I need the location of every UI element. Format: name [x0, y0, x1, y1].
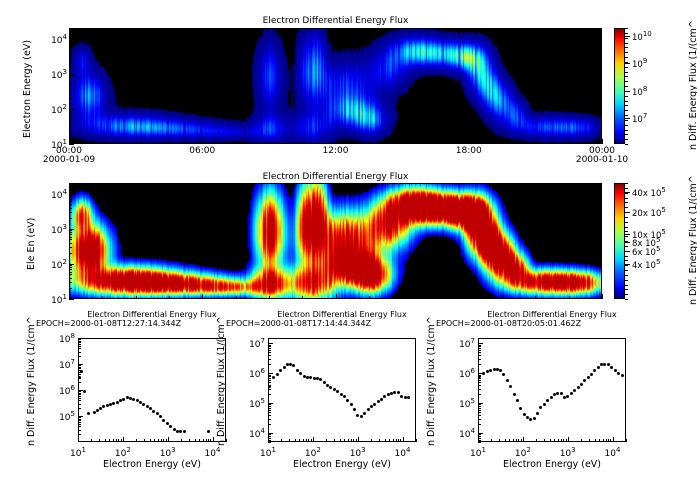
spectrum-xtick-minor [581, 439, 582, 442]
spectrum-xtick-minor [150, 439, 151, 442]
spectrum-ytick-minor [268, 406, 271, 407]
xtick-minor [469, 296, 470, 299]
cbar-tick-minor [625, 101, 628, 102]
cbar-tick-minor [625, 91, 628, 92]
xtick-date: 2000-01-09 [39, 155, 99, 165]
cbar-tick-label: 40x 105 [632, 186, 666, 199]
cbar-tick-minor [625, 202, 628, 203]
spectrum-xtick-label: 103 [150, 446, 186, 459]
ytick-minor [69, 82, 72, 83]
xtick-minor [136, 296, 137, 299]
ytick-label: 103 [41, 68, 67, 81]
spectrum-xtick-mark [358, 437, 359, 442]
spectrum-xtick-minor [595, 439, 596, 442]
spectrum-xtick-mark [403, 437, 404, 442]
spectrum-data-point [580, 383, 583, 386]
spectrum-xtick-minor [166, 439, 167, 442]
spectrum-ytick-minor [268, 412, 271, 413]
ytick-minor [69, 201, 72, 202]
spectrum-xtick-minor [353, 439, 354, 442]
cbar-tick-label: 107 [632, 112, 647, 125]
spectrum-xtick-mark [78, 437, 79, 442]
ytick-minor [69, 199, 72, 200]
xtick-date: 2000-01-10 [572, 155, 632, 165]
cbar-tick-minor [625, 67, 628, 68]
spectrum-xtick-minor [608, 439, 609, 442]
cbar-tick-minor [625, 222, 628, 223]
spectrum-xtick-minor [116, 439, 117, 442]
ytick-minor [69, 230, 72, 231]
cbar-tick-minor [625, 193, 628, 194]
cbar-tick-minor [625, 294, 628, 295]
spectrum-xtick-minor [589, 439, 590, 442]
spectrum-data-point [397, 391, 400, 394]
cbar-tick-minor [625, 38, 628, 39]
xtick-minor [535, 296, 536, 299]
spectrum-xtick-minor [144, 439, 145, 442]
xtick-minor [69, 296, 70, 299]
cbar-tick-minor [625, 120, 628, 121]
spectrum-ytick-label: 106 [238, 367, 265, 380]
xtick-minor [202, 141, 203, 144]
spectrum-ytick-minor [478, 350, 481, 351]
spectrum-ytick-minor [268, 346, 271, 347]
spectrum-data-point [83, 390, 86, 393]
spectrum-xtick-minor [521, 439, 522, 442]
spectrum-xtick-minor [491, 439, 492, 442]
spectrum-ytick-label: 108 [48, 332, 75, 345]
spectrum-xtick-minor [289, 439, 290, 442]
spectrum-data-point [597, 366, 600, 369]
cbar-tick-mark [625, 234, 630, 235]
spectrum-xtick-minor [281, 439, 282, 442]
spectrum-ytick-minor [78, 352, 81, 353]
ytick-minor [69, 77, 72, 78]
spectrum-ytick-minor [478, 424, 481, 425]
cbar-tick-minor [625, 86, 628, 87]
ytick-minor [69, 267, 72, 268]
ytick-label: 103 [41, 223, 67, 236]
spectrum-xtick-minor [603, 439, 604, 442]
ytick-minor [69, 253, 72, 254]
ytick-minor [69, 265, 72, 266]
cbar-tick-minor [625, 134, 628, 135]
xtick-minor [302, 141, 303, 144]
xtick-minor [169, 141, 170, 144]
cbar-tick-minor [625, 115, 628, 116]
spectrum-xtick-minor [295, 439, 296, 442]
ytick-minor [69, 197, 72, 198]
spectrum-xtick-minor [389, 439, 390, 442]
cbar-tick-minor [625, 72, 628, 73]
spectrum-xtick-minor [340, 439, 341, 442]
cbar-tick-minor [625, 251, 628, 252]
spectrum-xtick-minor [99, 439, 100, 442]
spectrum-xtick-label: 102 [295, 446, 331, 459]
xtick-label: 18:00 [441, 146, 497, 156]
spectrum-ytick-label: 107 [48, 358, 75, 371]
spectrum-ytick-minor [478, 442, 481, 443]
cbar-tick-mark [625, 63, 630, 64]
spectrum-xtick-minor [550, 439, 551, 442]
cbar-tick-minor [625, 265, 628, 266]
spectrum-xtick-minor [509, 439, 510, 442]
spectrum-xtick-minor [195, 439, 196, 442]
spectrum-xtick-minor [416, 439, 417, 442]
cbar-tick-minor [625, 144, 628, 145]
spectrum-xtick-label: 102 [105, 446, 141, 459]
spectrum-xtick-mark [268, 437, 269, 442]
spectrum-xtick-minor [210, 439, 211, 442]
spectrum-ytick-minor [78, 400, 81, 401]
spectrum-ytick-minor [478, 348, 481, 349]
xtick-minor [502, 296, 503, 299]
spectrum-xtick-minor [136, 439, 137, 442]
ytick-minor [69, 112, 72, 113]
spectrum-xtick-mark [313, 437, 314, 442]
xtick-minor [102, 141, 103, 144]
spectrum-ytick-minor [478, 382, 481, 383]
ytick-minor [69, 278, 72, 279]
spectrum-xtick-minor [505, 439, 506, 442]
spectrum-ytick-minor [478, 352, 481, 353]
xtick-minor [435, 296, 436, 299]
spectrum-xtick-minor [206, 439, 207, 442]
cbar-tick-minor [625, 275, 628, 276]
spectrum-ytick-minor [478, 415, 481, 416]
spectrum-data-point [407, 396, 410, 399]
ytick-minor [69, 53, 72, 54]
cbar-tick-minor [625, 139, 628, 140]
spectrum-xtick-minor [563, 439, 564, 442]
ytick-minor [69, 272, 72, 273]
xtick-minor [602, 296, 603, 299]
ytick-minor [69, 133, 72, 134]
spectrum-data-point [207, 430, 210, 433]
spectrum-xtick-minor [181, 439, 182, 442]
spectrum-ytick-minor [78, 422, 81, 423]
spectrum-xtick-minor [626, 439, 627, 442]
spectrum-data-point [621, 374, 624, 377]
spectrum-data-point [122, 398, 125, 401]
cbar-tick-minor [625, 43, 628, 44]
cbar-tick-minor [625, 246, 628, 247]
spectrum-ytick-minor [478, 419, 481, 420]
xtick-minor [169, 296, 170, 299]
spectrum-xtick-mark [123, 437, 124, 442]
cbar-tick-minor [625, 62, 628, 63]
spectrum-xtick-mark [613, 437, 614, 442]
spectrum-xtick-minor [516, 439, 517, 442]
cbar-tick-label: 10x 105 [632, 228, 666, 241]
spectrum-xtick-minor [308, 439, 309, 442]
middle-spectrogram-title: Electron Differential Energy Flux [69, 172, 602, 182]
spectrum-data-point [590, 373, 593, 376]
ytick-minor [69, 42, 72, 43]
xtick-minor [402, 141, 403, 144]
cbar-tick-minor [625, 227, 628, 228]
spectrum-ytick-minor [478, 406, 481, 407]
cbar-tick-label: 4x 105 [632, 258, 660, 271]
ytick-minor [69, 44, 72, 45]
xtick-minor [602, 141, 603, 144]
spectrum-ytick-minor [268, 378, 271, 379]
spectrum-ytick-label: 105 [448, 397, 475, 410]
cbar-tick-minor [625, 207, 628, 208]
ytick-minor [69, 237, 72, 238]
middle-spectrogram-image [70, 184, 602, 299]
spectrum-ytick-minor [78, 424, 81, 425]
spectrum-xtick-minor [558, 439, 559, 442]
middle-colorbar-label: n Diff. Energy Flux (1/(cm^ [688, 175, 697, 305]
spectrum-ytick-minor [78, 417, 81, 418]
spectrum-xtick-label: 103 [340, 446, 376, 459]
spectrum-ytick-label: 104 [448, 427, 475, 440]
spectrum-ytick-minor [78, 426, 81, 427]
spectrum-ytick-minor [478, 346, 481, 347]
spectrum-xtick-minor [356, 439, 357, 442]
spectrum-xtick-mark [478, 437, 479, 442]
spectrum-ytick-minor [268, 382, 271, 383]
spectrum-xtick-minor [348, 439, 349, 442]
spectrum-xtick-minor [199, 439, 200, 442]
ytick-minor [69, 127, 72, 128]
ytick-minor [69, 98, 72, 99]
spectrum-ytick-minor [268, 404, 271, 405]
spectrum-ytick-minor [78, 434, 81, 435]
spectrum-ytick-minor [78, 339, 81, 340]
ytick-minor [69, 208, 72, 209]
spectrum-ytick-minor [268, 389, 271, 390]
spectrum-ytick-minor [268, 419, 271, 420]
spectrum-ytick-minor [478, 364, 481, 365]
ytick-mark [69, 299, 74, 300]
ytick-minor [69, 49, 72, 50]
spectrum-xtick-minor [400, 439, 401, 442]
spectrum-ytick-label: 106 [448, 367, 475, 380]
ytick-minor [69, 212, 72, 213]
spectrum-ytick-label: 106 [48, 384, 75, 397]
spectrum-ytick-minor [268, 410, 271, 411]
ytick-label: 102 [41, 103, 67, 116]
spectrum-xtick-minor [306, 439, 307, 442]
spectrum-xtick-minor [154, 439, 155, 442]
cbar-tick-minor [625, 212, 628, 213]
ytick-minor [69, 288, 72, 289]
spectrum-ytick-minor [78, 396, 81, 397]
spectrum-ytick-minor [78, 391, 81, 392]
ytick-minor [69, 88, 72, 89]
spectrum-ytick-minor [478, 359, 481, 360]
spectrum-xtick-minor [158, 439, 159, 442]
spectrum-ytick-minor [478, 355, 481, 356]
spectrum-ytick-minor [78, 382, 81, 383]
spectrum-ytick-minor [268, 415, 271, 416]
spectrum-xtick-minor [326, 439, 327, 442]
spectrum-xtick-minor [121, 439, 122, 442]
ytick-minor [69, 123, 72, 124]
spectrum-xtick-minor [554, 439, 555, 442]
spectrum-xtick-minor [610, 439, 611, 442]
spectrum-xtick-minor [344, 439, 345, 442]
spectrum-data-point [350, 403, 353, 406]
spectrum-ytick-minor [478, 385, 481, 386]
spectrum-xtick-minor [299, 439, 300, 442]
cbar-tick-minor [625, 183, 628, 184]
spectrum-ytick-label: 107 [448, 337, 475, 350]
spectrum-ytick-minor [78, 430, 81, 431]
spectrum-ytick-minor [78, 394, 81, 395]
xtick-minor [369, 141, 370, 144]
spectrum-ytick-minor [268, 376, 271, 377]
spectrum-xtick-minor [536, 439, 537, 442]
spectrum-ytick-minor [78, 398, 81, 399]
cbar-tick-label: 109 [632, 57, 647, 70]
spectrum-ytick-minor [478, 394, 481, 395]
cbar-tick-minor [625, 57, 628, 58]
spectrum-xlabel: Electron Energy (eV) [82, 459, 222, 470]
cbar-tick-minor [625, 188, 628, 189]
ytick-label: 104 [41, 188, 67, 201]
xtick-minor [535, 141, 536, 144]
top-spectrogram-plot [69, 28, 602, 144]
spectrum-ytick-minor [268, 364, 271, 365]
spectrum-ytick-minor [78, 419, 81, 420]
cbar-tick-minor [625, 96, 628, 97]
cbar-tick-minor [625, 231, 628, 232]
spectrum-ytick-minor [268, 350, 271, 351]
spectrum-xtick-minor [91, 439, 92, 442]
spectrum-ytick-minor [268, 380, 271, 381]
spectrum-ytick-minor [78, 365, 81, 366]
spectrum-ytick-minor [78, 348, 81, 349]
spectrum-xtick-minor [203, 439, 204, 442]
middle-spectrogram-plot [69, 183, 602, 299]
spectrum-plot-box [268, 338, 416, 442]
spectrum-xtick-minor [606, 439, 607, 442]
xtick-minor [236, 296, 237, 299]
ytick-minor [69, 239, 72, 240]
cbar-tick-minor [625, 236, 628, 237]
xtick-minor [502, 141, 503, 144]
spectrum-xtick-minor [105, 439, 106, 442]
spectrum-ytick-minor [268, 345, 271, 346]
ytick-minor [69, 57, 72, 58]
spectrum-data-point [276, 373, 279, 376]
middle-spectrogram-ylabel: Ele En (eV) [26, 218, 37, 270]
ytick-mark [69, 144, 74, 145]
spectrum-xtick-label: 104 [195, 446, 231, 459]
spectrum-ylabel: n Diff. Energy Flux (1/(cm^ [26, 316, 37, 446]
cbar-tick-label: 20x 105 [632, 206, 666, 219]
spectrum-xtick-minor [513, 439, 514, 442]
ytick-minor [69, 110, 72, 111]
spectrum-xtick-minor [311, 439, 312, 442]
xtick-minor [269, 141, 270, 144]
spectrum-xtick-minor [109, 439, 110, 442]
spectrum-ytick-minor [78, 420, 81, 421]
ytick-minor [69, 119, 72, 120]
spectrum-xtick-minor [379, 439, 380, 442]
spectrum-epoch: EPOCH=2000-01-08T17:14:44.344Z [226, 319, 371, 328]
spectrum-xtick-minor [396, 439, 397, 442]
ytick-minor [69, 92, 72, 93]
cbar-tick-minor [625, 241, 628, 242]
spectrum-xtick-minor [566, 439, 567, 442]
spectrum-xtick-minor [393, 439, 394, 442]
xtick-minor [435, 141, 436, 144]
xtick-minor [402, 296, 403, 299]
spectrum-ytick-minor [78, 404, 81, 405]
spectrum-ytick-label: 105 [238, 397, 265, 410]
ytick-minor [69, 195, 72, 196]
spectrum-ytick-minor [78, 393, 81, 394]
spectrum-ytick-minor [78, 342, 81, 343]
xtick-label: 06:00 [174, 146, 230, 156]
ytick-minor [69, 232, 72, 233]
spectrum-xtick-label: 103 [550, 446, 586, 459]
spectrum-xtick-minor [561, 439, 562, 442]
xtick-minor [469, 141, 470, 144]
spectrum-data-point [166, 422, 169, 425]
spectrum-data-point [116, 401, 119, 404]
spectrum-xlabel: Electron Energy (eV) [482, 459, 622, 470]
cbar-tick-minor [625, 285, 628, 286]
spectrum-xtick-mark [523, 437, 524, 442]
spectrum-ytick-minor [478, 434, 481, 435]
spectrum-xtick-minor [371, 439, 372, 442]
cbar-tick-label: 108 [632, 85, 647, 98]
spectrum-ylabel: n Diff. Energy Flux (1/(cm^ [216, 316, 227, 446]
ytick-minor [69, 84, 72, 85]
ytick-minor [69, 274, 72, 275]
ytick-minor [69, 247, 72, 248]
spectrum-xtick-minor [118, 439, 119, 442]
spectrum-ytick-minor [478, 389, 481, 390]
spectrum-xtick-minor [189, 439, 190, 442]
spectrum-xtick-minor [334, 439, 335, 442]
xtick-minor [569, 141, 570, 144]
spectrum-xtick-minor [303, 439, 304, 442]
spectrum-data-point [367, 408, 370, 411]
spectrum-data-point [272, 376, 275, 379]
cbar-tick-mark [625, 242, 630, 243]
cbar-tick-minor [625, 130, 628, 131]
ytick-minor [69, 269, 72, 270]
top-spectrogram-title: Electron Differential Energy Flux [69, 16, 602, 26]
xtick-minor [269, 296, 270, 299]
cbar-tick-minor [625, 81, 628, 82]
xtick-minor [369, 296, 370, 299]
spectrum-ytick-minor [268, 424, 271, 425]
spectrum-title: Electron Differential Energy Flux [452, 310, 652, 319]
spectrum-xtick-label: 102 [505, 446, 541, 459]
spectrum-xtick-label: 104 [595, 446, 631, 459]
ytick-minor [69, 282, 72, 283]
spectrum-xtick-minor [208, 439, 209, 442]
spectrum-ytick-minor [78, 368, 81, 369]
spectrum-ytick-minor [268, 375, 271, 376]
spectrum-ytick-minor [478, 378, 481, 379]
cbar-tick-minor [625, 105, 628, 106]
ytick-minor [69, 243, 72, 244]
spectrum-xtick-mark [568, 437, 569, 442]
cbar-tick-minor [625, 110, 628, 111]
ytick-minor [69, 218, 72, 219]
spectrum-xtick-label: 101 [60, 446, 96, 459]
ytick-minor [69, 114, 72, 115]
spectrum-ytick-minor [78, 367, 81, 368]
